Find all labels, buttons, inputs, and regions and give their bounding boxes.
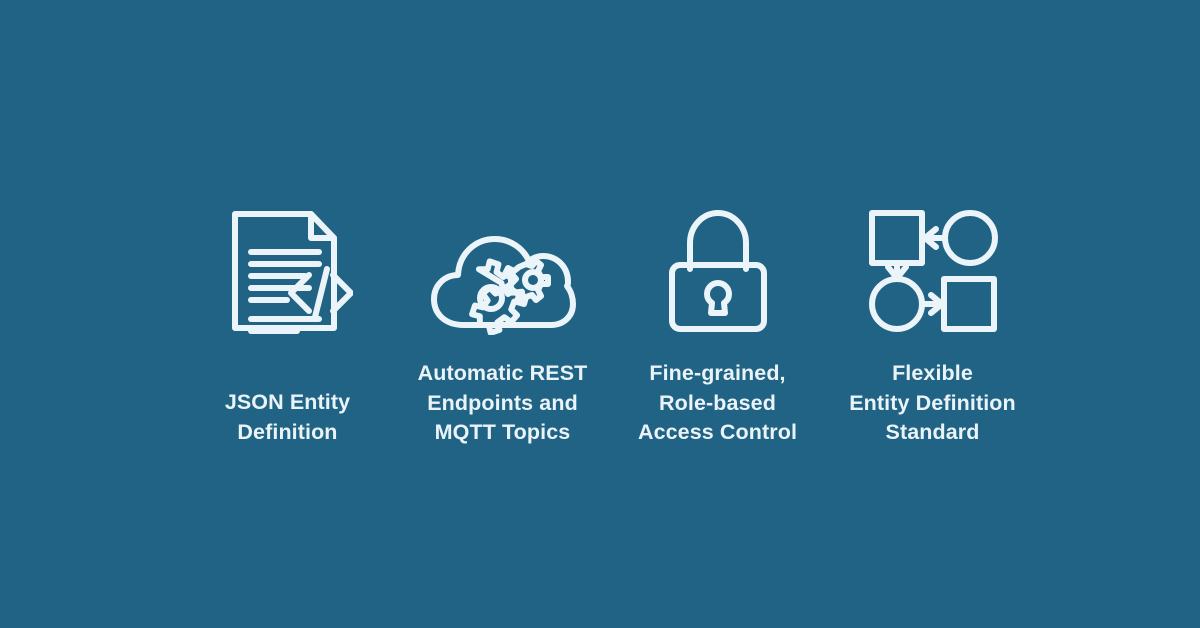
flowchart-icon <box>866 195 1000 335</box>
padlock-icon <box>666 195 770 335</box>
feature-row: JSON Entity Definition <box>180 195 1040 465</box>
feature-automatic-rest-endpoints-mqtt-topics: Automatic REST Endpoints and MQTT Topics <box>395 195 610 448</box>
feature-banner: JSON Entity Definition <box>0 0 1200 628</box>
feature-flexible-entity-definition-standard: Flexible Entity Definition Standard <box>825 195 1040 448</box>
feature-label: JSON Entity Definition <box>225 388 350 447</box>
feature-json-entity-definition: JSON Entity Definition <box>180 195 395 447</box>
document-code-icon <box>223 195 353 335</box>
feature-label: Fine-grained, Role-based Access Control <box>638 359 797 448</box>
cloud-gears-icon <box>430 195 576 335</box>
feature-fine-grained-role-based-access-control: Fine-grained, Role-based Access Control <box>610 195 825 448</box>
feature-label: Flexible Entity Definition Standard <box>849 359 1016 448</box>
feature-label: Automatic REST Endpoints and MQTT Topics <box>418 359 588 448</box>
